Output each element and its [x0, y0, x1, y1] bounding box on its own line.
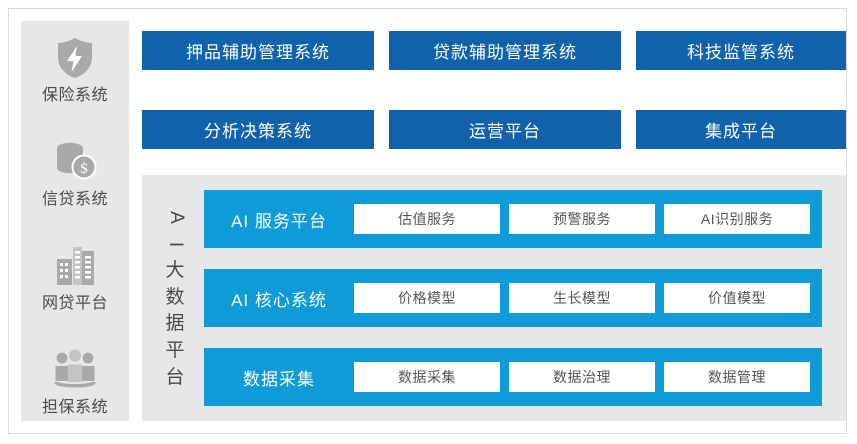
sidebar-item-guarantee[interactable]: 担保系统	[21, 347, 129, 418]
sidebar-item-label: 信贷系统	[21, 190, 129, 210]
top-button-tech-supervision[interactable]: 科技监管系统	[636, 31, 846, 70]
layer-cells: 估值服务 预警服务 AI识别服务	[354, 204, 822, 234]
vertical-label-char: 平	[165, 338, 184, 365]
sidebar-item-label: 担保系统	[21, 398, 129, 418]
layer-title: 数据采集	[204, 365, 354, 390]
platform-layer-data-collection: 数据采集 数据采集 数据治理 数据管理	[204, 348, 822, 406]
ai-bigdata-platform-panel: A I 大 数 据 平 台 AI 服务平台 估值服务 预警服务 AI识别服务 A…	[142, 175, 846, 421]
layer-cell-ai-recognition-service[interactable]: AI识别服务	[664, 204, 810, 234]
vertical-label-char: 台	[165, 365, 184, 392]
people-group-icon	[21, 347, 129, 393]
architecture-diagram-frame: 保险系统 $ 信贷系统	[8, 8, 847, 434]
svg-text:$: $	[80, 161, 88, 177]
sidebar-item-online-loan[interactable]: 网贷平台	[21, 243, 129, 314]
layer-cell-growth-model[interactable]: 生长模型	[509, 283, 655, 313]
platform-layer-ai-core: AI 核心系统 价格模型 生长模型 价值模型	[204, 269, 822, 327]
vertical-label-char: 据	[165, 311, 184, 338]
layer-cell-valuation-service[interactable]: 估值服务	[354, 204, 500, 234]
layer-cell-data-collection[interactable]: 数据采集	[354, 362, 500, 392]
shield-bolt-icon	[21, 35, 129, 81]
top-systems-row-1: 押品辅助管理系统 贷款辅助管理系统 科技监管系统	[142, 31, 846, 70]
layer-cells: 数据采集 数据治理 数据管理	[354, 362, 822, 392]
coin-stack-dollar-icon: $	[21, 139, 129, 185]
top-button-collateral-aux-mgmt[interactable]: 押品辅助管理系统	[142, 31, 374, 70]
sidebar: 保险系统 $ 信贷系统	[21, 21, 129, 421]
layer-title: AI 核心系统	[204, 286, 354, 311]
layer-title: AI 服务平台	[204, 207, 354, 232]
vertical-label-char: 大	[165, 258, 184, 285]
sidebar-item-label: 保险系统	[21, 86, 129, 106]
vertical-label-char: 数	[165, 285, 184, 312]
platform-vertical-label: A I 大 数 据 平 台	[158, 189, 192, 407]
top-systems-row-2: 分析决策系统 运营平台 集成平台	[142, 110, 846, 149]
buildings-icon	[21, 243, 129, 289]
layer-cell-price-model[interactable]: 价格模型	[354, 283, 500, 313]
layer-cell-alert-service[interactable]: 预警服务	[509, 204, 655, 234]
layer-cell-value-model[interactable]: 价值模型	[664, 283, 810, 313]
layer-cell-data-management[interactable]: 数据管理	[664, 362, 810, 392]
top-button-loan-aux-mgmt[interactable]: 贷款辅助管理系统	[389, 31, 621, 70]
sidebar-item-insurance[interactable]: 保险系统	[21, 35, 129, 106]
sidebar-item-label: 网贷平台	[21, 294, 129, 314]
top-button-integration-platform[interactable]: 集成平台	[636, 110, 846, 149]
vertical-label-char: A	[162, 211, 189, 224]
platform-layer-ai-service: AI 服务平台 估值服务 预警服务 AI识别服务	[204, 190, 822, 248]
layer-cell-data-governance[interactable]: 数据治理	[509, 362, 655, 392]
vertical-label-char: I	[162, 241, 189, 246]
sidebar-item-credit[interactable]: $ 信贷系统	[21, 139, 129, 210]
top-button-operations-platform[interactable]: 运营平台	[389, 110, 621, 149]
top-button-analysis-decision[interactable]: 分析决策系统	[142, 110, 374, 149]
layer-cells: 价格模型 生长模型 价值模型	[354, 283, 822, 313]
